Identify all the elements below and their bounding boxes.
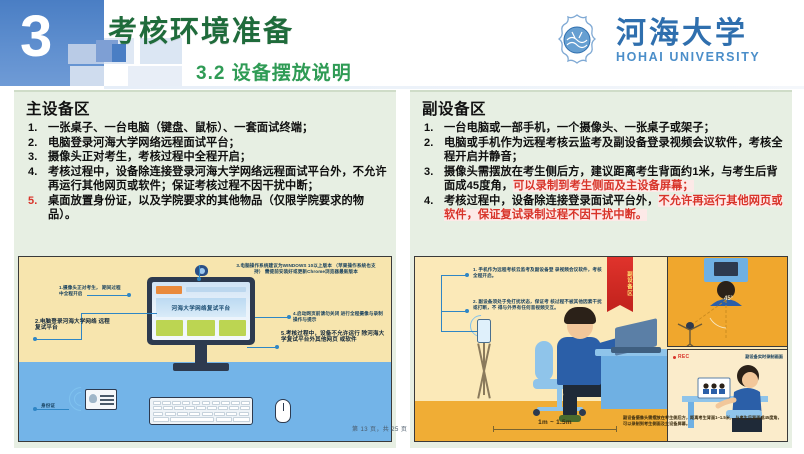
secondary-equipment-layout-diagram: 副设备区 1. 手机作为远程考核云监考及副设备登 录视频会议软件，考核 xyxy=(414,256,788,442)
list-item: 3. 摄像头正对考生，考核过程中全程开启； xyxy=(26,150,388,164)
diagram-annotation-1: 1.摄像头正对考生， 期间过程中全程开启 xyxy=(59,285,125,298)
main-equipment-layout-diagram: 河海大学网络复试平台 xyxy=(18,256,392,442)
distance-label: 1m ~ 1.5m xyxy=(493,419,617,426)
screen-card xyxy=(187,320,214,336)
connector-line xyxy=(199,265,200,279)
logo-name-cn: 河海大学 xyxy=(616,18,760,50)
list-item-highlighted: 5. 桌面放置身份证，以及学院要求的其他物品（仅限学院要求的物品）。 xyxy=(26,194,388,222)
connector-line xyxy=(441,275,467,276)
diagram-annotation-3: 3.电脑操作系统建议为WINDOWS 10以上版本 （苹果操作系统也支持） 需提… xyxy=(235,263,377,276)
desk-body xyxy=(601,353,667,409)
list-item: 4. 考核过程中，设备除连接登录河海大学网络远程面试平台外，不允许再运行其他网页… xyxy=(26,165,388,193)
distance-measure: 1m ~ 1.5m xyxy=(493,419,617,432)
distance-note: 副设备摄像头需摆放在考生侧后方，距离考生背面1~1.5米， 与考生后背面成45度… xyxy=(623,415,783,427)
distance-bar xyxy=(493,426,617,432)
decor-square-7 xyxy=(128,66,182,86)
screen-logo-bar xyxy=(156,286,182,294)
angle-label: 45° xyxy=(724,296,733,302)
diagram-annotation-6: 身份证 xyxy=(41,403,81,409)
header-divider xyxy=(104,86,804,89)
item-text: 电脑登录河海大学网络远程面试平台； xyxy=(48,137,240,149)
slide-root: 3 考核环境准备 3.2 设备摆放说明 河海大学 HOHAI UNIVERSIT… xyxy=(0,0,804,454)
university-logo: 河海大学 HOHAI UNIVERSITY xyxy=(548,12,760,70)
diagram-annotation-b1: 1. 手机作为远程考核云监考及副设备登 录视频会议软件，考核全程开启。 xyxy=(473,267,603,280)
connector-line xyxy=(255,317,289,318)
diagram-annotation-b2: 2. 副设备须处于免打扰状态，保证考 核过程不被其他因素干扰或打断，不 得与外界… xyxy=(473,299,603,312)
item-number: 4. xyxy=(28,165,37,179)
section-banner: 副设备区 xyxy=(607,257,633,305)
item-number: 2. xyxy=(28,136,37,150)
logo-name-en: HOHAI UNIVERSITY xyxy=(616,50,760,64)
screen-cards xyxy=(156,320,246,336)
connector-line xyxy=(441,311,467,312)
list-item: 2. 电脑或手机作为远程考核云监考及副设备登录视频会议软件，考核全程开启并静音； xyxy=(422,136,784,164)
screen-nav-bar xyxy=(186,287,246,292)
screen-card xyxy=(156,320,183,336)
id-card-icon xyxy=(85,389,117,410)
list-item: 1. 一张桌子、一台电脑（键盘、鼠标）、一套面试终端； xyxy=(26,121,388,135)
item-text: 一张桌子、一台电脑（键盘、鼠标）、一套面试终端； xyxy=(48,122,313,134)
item-number: 4. xyxy=(424,194,433,208)
monitor-stand-base xyxy=(173,363,229,371)
item-number: 5. xyxy=(28,194,37,208)
list-item: 2. 电脑登录河海大学网络远程面试平台； xyxy=(26,136,388,150)
keyboard-icon xyxy=(149,397,253,425)
decor-square-8 xyxy=(104,64,128,86)
recording-inset-panel: REC 副设备实时录制画面 xyxy=(667,349,788,442)
diagram-annotation-4: 4.启动网页前请勿关闭 进行全程摄像与录制操作与提示 xyxy=(293,311,385,324)
item-text-highlight: 可以录制到考生侧面及主设备屏幕； xyxy=(513,180,694,192)
item-text: 摄像头正对考生，考核过程中全程开启； xyxy=(48,151,251,163)
item-text: 考核过程中，设备除连接登录面试平台外， xyxy=(444,195,658,207)
main-equipment-list: 1. 一张桌子、一台电脑（键盘、鼠标）、一套面试终端； 2. 电脑登录河海大学网… xyxy=(26,121,388,222)
item-text: 桌面放置身份证，以及学院要求的其他物品（仅限学院要求的物品）。 xyxy=(48,195,364,221)
connector-line xyxy=(247,347,277,348)
list-item: 4. 考核过程中，设备除连接登录面试平台外，不允许再运行其他网页或软件，保证复试… xyxy=(422,194,784,222)
item-text: 考核过程中，设备除连接登录河海大学网络远程面试平台外，不允许再运行其他网页或软件… xyxy=(48,166,387,192)
screen-card xyxy=(219,320,246,336)
chair-pole xyxy=(557,387,562,409)
tripod-leg xyxy=(483,343,485,395)
secondary-equipment-title: 副设备区 xyxy=(422,97,792,119)
person-shin xyxy=(563,393,577,417)
university-seal-icon xyxy=(548,12,606,70)
connector-line xyxy=(441,275,442,331)
diagram-annotation-5: 5.考核过程中，设备不允许运行 除河海大学复试平台外其他网页 或软件 xyxy=(281,331,385,344)
laptop-keyboard-icon xyxy=(611,347,661,353)
main-equipment-title: 主设备区 xyxy=(26,97,396,119)
monitor-stand-neck xyxy=(195,345,207,365)
item-number: 1. xyxy=(424,121,433,135)
keyboard-row xyxy=(153,412,250,416)
diagram-annotation-2: 2.电脑登录河海大学网络 远程复试平台 xyxy=(35,319,113,332)
monitor-icon: 河海大学网络复试平台 xyxy=(147,277,255,345)
section-number: 3 xyxy=(20,8,51,66)
item-number: 3. xyxy=(424,165,433,179)
connector-line xyxy=(81,313,157,314)
monitor-screen: 河海大学网络复试平台 xyxy=(152,282,250,340)
screen-platform-title: 河海大学网络复试平台 xyxy=(156,298,246,317)
item-number: 2. xyxy=(424,136,433,150)
item-text: 一台电脑或一部手机，一个摄像头、一张桌子或架子； xyxy=(444,122,715,134)
chair-backrest xyxy=(535,341,553,381)
keyboard-row xyxy=(153,401,250,405)
keyboard-row xyxy=(153,417,250,421)
chair-caster xyxy=(533,409,540,416)
mouse-icon xyxy=(275,399,291,423)
angle-inset-panel: 45° xyxy=(667,256,788,347)
page-indicator: 第 13 页，共 25 页 xyxy=(352,424,407,433)
list-item: 1. 一台电脑或一部手机，一个摄像头、一张桌子或架子； xyxy=(422,121,784,135)
secondary-equipment-list: 1. 一台电脑或一部手机，一个摄像头、一张桌子或架子； 2. 电脑或手机作为远程… xyxy=(422,121,784,222)
connector-line xyxy=(441,331,477,332)
connector-line xyxy=(35,339,81,340)
keyboard-row xyxy=(153,406,250,410)
item-text: 电脑或手机作为远程考核云监考及副设备登录视频会议软件，考核全程开启并静音； xyxy=(444,137,783,163)
list-item: 3. 摄像头需摆放在考生侧后方，建议距离考生背面约1米，与考生后背面成45度角，… xyxy=(422,165,784,193)
page-title: 考核环境准备 xyxy=(108,8,294,50)
webcam-icon xyxy=(195,265,208,276)
item-number: 1. xyxy=(28,121,37,135)
page-subtitle: 3.2 设备摆放说明 xyxy=(196,58,352,85)
phone-icon xyxy=(477,319,491,343)
decor-square-5 xyxy=(70,66,106,86)
item-number: 3. xyxy=(28,150,37,164)
